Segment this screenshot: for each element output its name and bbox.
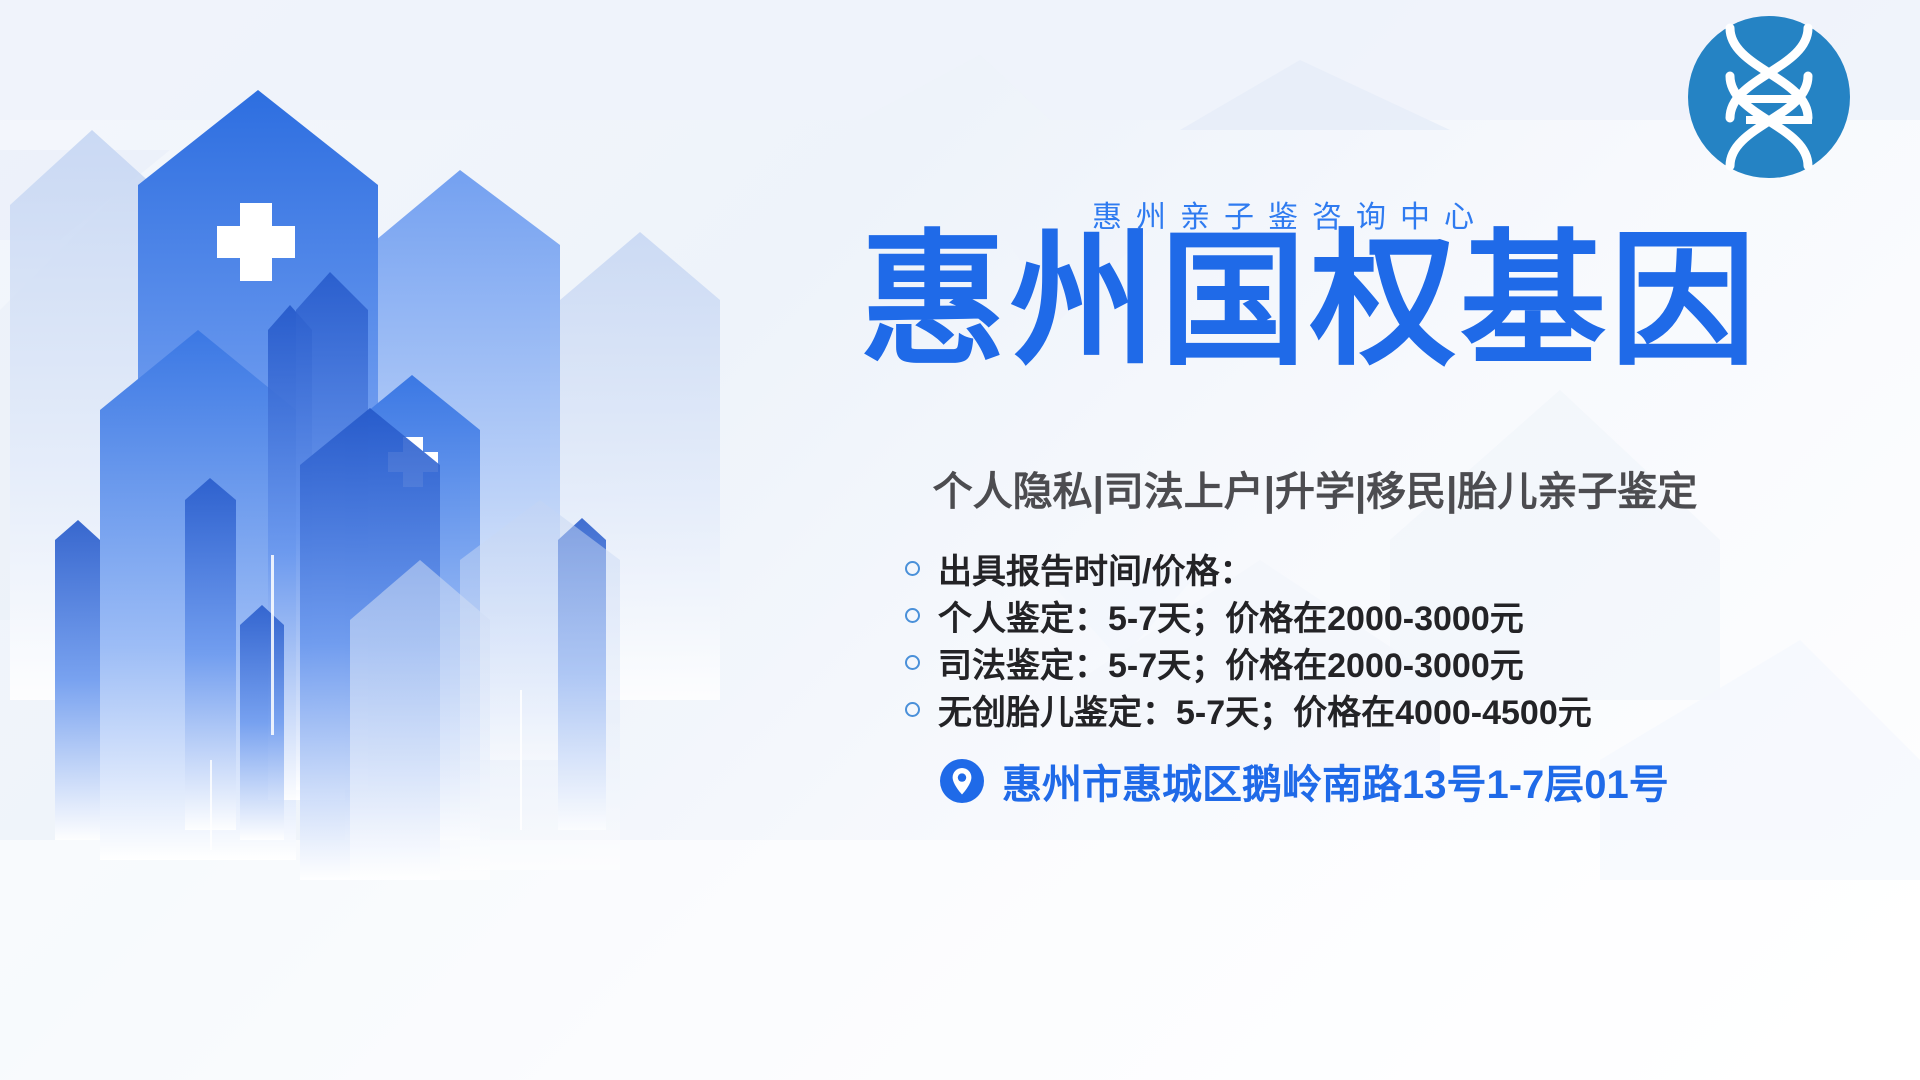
location-pin-icon	[940, 759, 984, 803]
circle-outline-icon	[905, 655, 920, 670]
light-streak-3	[520, 690, 522, 830]
address-text: 惠州市惠城区鹅岭南路13号1-7层01号	[1002, 752, 1669, 810]
list-item-label: 出具报告时间/价格：	[938, 544, 1253, 593]
content-column: 惠州亲子鉴咨询中心 惠州国权基因 个人隐私|司法上户|升学|移民|胎儿亲子鉴定 …	[780, 0, 1920, 1080]
list-item-label: 司法鉴定：5-7天；价格在2000-3000元	[938, 638, 1524, 687]
tower-slim-4	[55, 520, 100, 840]
building-ghost-2	[460, 500, 620, 870]
circle-outline-icon	[905, 561, 920, 576]
list-item: 无创胎儿鉴定：5-7天；价格在4000-4500元	[905, 686, 1905, 732]
page-title: 惠州国权基因	[770, 228, 1850, 374]
circle-outline-icon	[905, 702, 920, 717]
circle-outline-icon	[905, 608, 920, 623]
banner-root: 惠州亲子鉴咨询中心 惠州国权基因 个人隐私|司法上户|升学|移民|胎儿亲子鉴定 …	[0, 0, 1920, 1080]
city-skyline-illustration	[0, 0, 820, 1080]
list-item-label: 个人鉴定：5-7天；价格在2000-3000元	[938, 591, 1524, 640]
medical-cross-icon-bar	[217, 226, 295, 258]
list-item: 出具报告时间/价格：	[905, 545, 1905, 591]
list-item: 个人鉴定：5-7天；价格在2000-3000元	[905, 592, 1905, 638]
skyline-svg	[0, 0, 820, 1080]
location-pin-svg	[940, 759, 984, 803]
info-bullet-list: 出具报告时间/价格： 个人鉴定：5-7天；价格在2000-3000元 司法鉴定：…	[905, 545, 1905, 733]
list-item: 司法鉴定：5-7天；价格在2000-3000元	[905, 639, 1905, 685]
services-line: 个人隐私|司法上户|升学|移民|胎儿亲子鉴定	[780, 459, 1850, 517]
address-block: 惠州市惠城区鹅岭南路13号1-7层01号	[940, 752, 1669, 810]
list-item-label: 无创胎儿鉴定：5-7天；价格在4000-4500元	[938, 685, 1592, 734]
light-streak-1	[271, 555, 274, 735]
light-streak-2	[210, 760, 212, 850]
tower-slim-6	[240, 605, 284, 840]
